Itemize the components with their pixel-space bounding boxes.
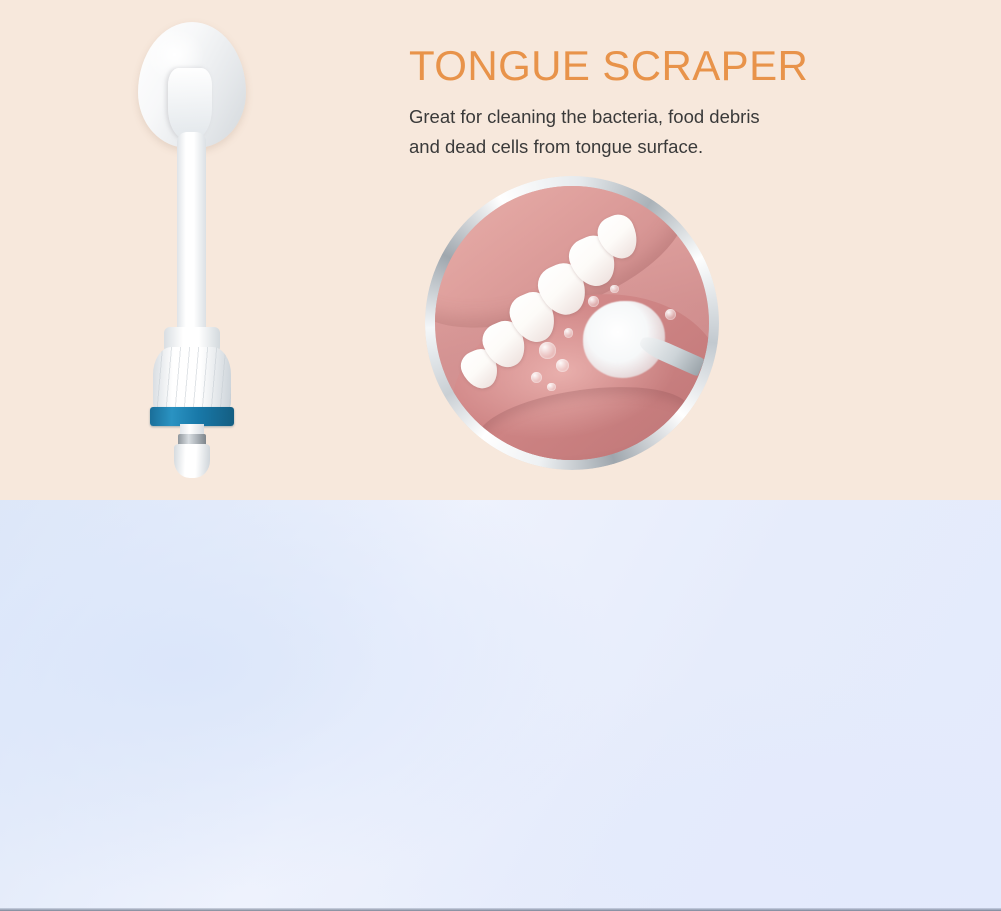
section-standard-nozzle: STANDARD NOZZLE Remove bacteria deep bet…: [0, 500, 1001, 911]
description-line-2: and dead cells from tongue surface.: [409, 132, 969, 162]
scraper-shaft: [177, 132, 206, 342]
tongue-cleaning-illustration: [425, 176, 719, 470]
description-line-1: Great for cleaning the bacteria, food de…: [409, 106, 760, 127]
droplet: [539, 342, 555, 358]
inset-inner-clip: [435, 186, 709, 460]
scraper-head-inner-fin: [168, 68, 212, 140]
product-feature-page: TONGUE SCRAPER Great for cleaning the ba…: [0, 0, 1001, 911]
scraper-fluted-skirt: [153, 347, 231, 413]
tongue-scraper-headline: TONGUE SCRAPER: [409, 44, 969, 88]
tongue-scraper-description: Great for cleaning the bacteria, food de…: [409, 102, 969, 161]
scraper-base-foot: [174, 444, 210, 478]
droplet: [610, 285, 618, 293]
section-tongue-scraper: TONGUE SCRAPER Great for cleaning the ba…: [0, 0, 1001, 500]
tongue-scraper-text-block: TONGUE SCRAPER Great for cleaning the ba…: [409, 44, 969, 161]
droplet: [547, 383, 555, 391]
tongue-scraper-product-image: [128, 22, 256, 472]
droplet: [588, 296, 599, 307]
